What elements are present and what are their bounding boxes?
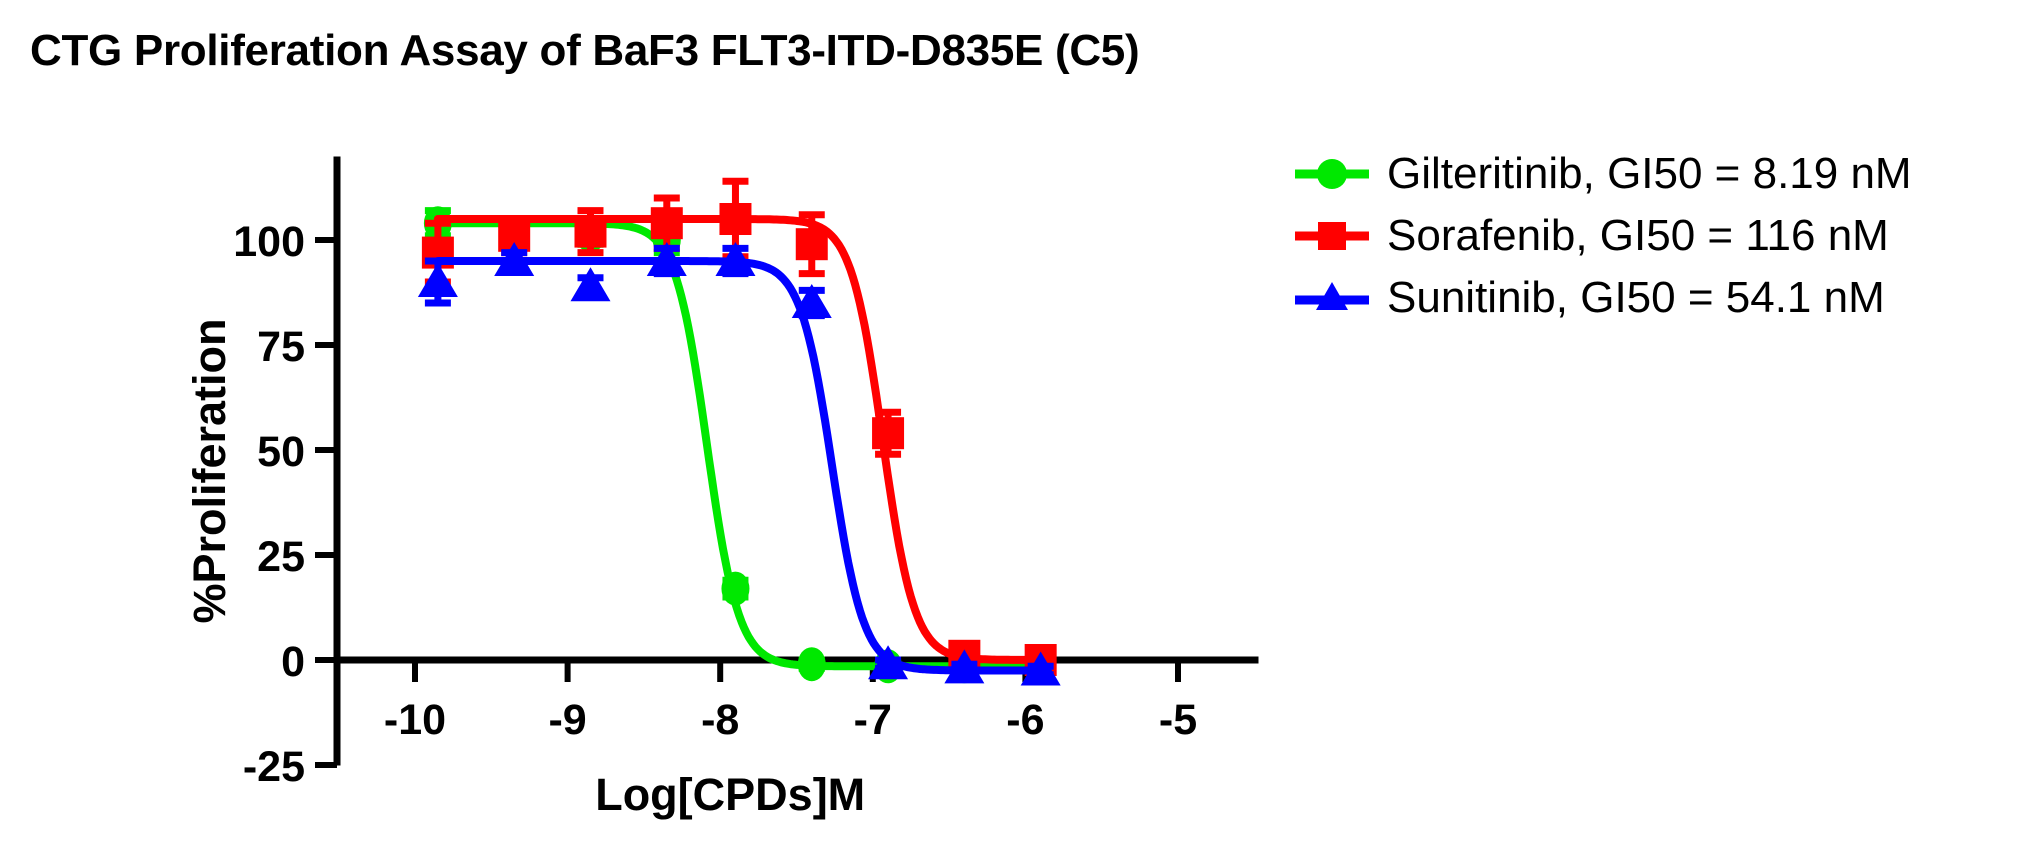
legend-label: Sorafenib, GI50 = 116 nM — [1387, 214, 1889, 258]
y-axis-title-text: %Proliferation — [184, 318, 235, 623]
series-group — [418, 181, 1061, 685]
x-tick-label: -5 — [1159, 696, 1197, 744]
y-tick-label: 0 — [281, 638, 305, 686]
y-tick-label: 50 — [257, 428, 305, 476]
data-point-circle — [798, 647, 826, 681]
data-point-circle — [721, 572, 749, 606]
legend-item[interactable]: Gilteritinib, GI50 = 8.19 nM — [1293, 143, 1912, 205]
legend-item[interactable]: Sorafenib, GI50 = 116 nM — [1293, 205, 1912, 267]
data-point-square — [574, 216, 606, 248]
legend-marker-triangle-icon — [1293, 278, 1371, 318]
chart-legend: Gilteritinib, GI50 = 8.19 nM Sorafenib, … — [1293, 143, 1912, 329]
y-tick-label: 100 — [233, 218, 305, 266]
x-tick-label: -8 — [701, 696, 739, 744]
y-tick-label: 25 — [257, 533, 305, 581]
legend-item[interactable]: Sunitinib, GI50 = 54.1 nM — [1293, 267, 1912, 329]
y-tick-label: 75 — [257, 323, 305, 371]
legend-marker-square-icon — [1293, 216, 1371, 256]
data-point-square — [872, 417, 904, 449]
plot-area: -250255075100-10-9-8-7-6-5Log[CPDs]M%Pro… — [0, 0, 2030, 849]
y-tick-label: -25 — [243, 743, 305, 791]
x-tick-label: -10 — [384, 696, 446, 744]
data-point-square — [651, 207, 683, 239]
data-point-square — [796, 228, 828, 260]
x-tick-label: -9 — [548, 696, 586, 744]
data-point-triangle — [570, 267, 610, 301]
x-tick-label: -7 — [854, 696, 892, 744]
figure-container: CTG Proliferation Assay of BaF3 FLT3-ITD… — [0, 0, 2030, 849]
legend-label: Sunitinib, GI50 = 54.1 nM — [1387, 276, 1885, 320]
legend-marker-circle-icon — [1293, 154, 1371, 194]
x-tick-label: -6 — [1006, 696, 1044, 744]
x-axis-title: Log[CPDs]M — [595, 769, 865, 820]
series-circle — [424, 206, 1055, 683]
y-axis-title: %Proliferation — [184, 318, 235, 623]
legend-label: Gilteritinib, GI50 = 8.19 nM — [1387, 152, 1912, 196]
data-point-square — [719, 203, 751, 235]
